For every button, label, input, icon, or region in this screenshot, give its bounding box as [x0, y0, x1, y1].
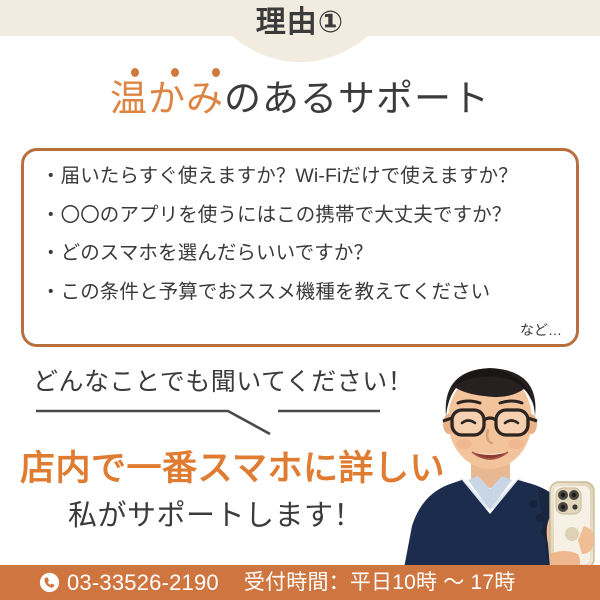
list-item: ・どのスマホを選んだらいいですか？: [41, 244, 576, 264]
bullet-marker: ・: [41, 242, 61, 264]
list-item-text: どのスマホを選んだらいいですか？: [61, 242, 373, 264]
list-item: ・この条件と予算でおススメ機種を教えてください: [41, 283, 576, 303]
question-box-footnote: など…: [520, 320, 562, 340]
main-heading-block: 温かみのあるサポート: [0, 66, 600, 120]
claim-subline: 私がサポートします！: [68, 492, 363, 534]
heading-highlight: 温かみ: [110, 78, 224, 119]
claim-headline: 店内で一番スマホに詳しい: [20, 440, 445, 491]
promo-poster: 理由① 温かみのあるサポート ・届いたらすぐ使えますか？Wi-Fiだけで使えます…: [0, 0, 600, 600]
phone-number: 03-33526-2190: [67, 572, 219, 594]
phone-icon: [39, 572, 60, 593]
tagline-text: どんなことでも聞いてください！: [33, 362, 413, 398]
bullet-marker: ・: [41, 281, 61, 303]
question-list: ・届いたらすぐ使えますか？Wi-Fiだけで使えますか？ ・〇〇のアプリを使うには…: [24, 151, 576, 302]
phone-block[interactable]: 03-33526-2190: [39, 572, 219, 594]
footer-contact-bar: 03-33526-2190 受付時間：平日10時 〜 17時: [0, 565, 600, 600]
heading-rest: のあるサポート: [224, 78, 490, 119]
list-item-text: 〇〇のアプリを使うにはこの携帯で大丈夫ですか？: [61, 204, 512, 226]
question-box: ・届いたらすぐ使えますか？Wi-Fiだけで使えますか？ ・〇〇のアプリを使うには…: [21, 148, 579, 347]
list-item: ・届いたらすぐ使えますか？Wi-Fiだけで使えますか？: [41, 167, 576, 187]
banner-title: 理由①: [0, 8, 600, 38]
speech-bubble-underline-icon: [30, 400, 390, 436]
business-hours: 受付時間：平日10時 〜 17時: [244, 572, 516, 593]
list-item-text: この条件と予算でおススメ機種を教えてください: [61, 281, 491, 303]
bullet-marker: ・: [41, 165, 61, 187]
emphasis-dot: [131, 68, 139, 77]
emphasis-dot: [171, 68, 179, 77]
list-item: ・〇〇のアプリを使うにはこの携帯で大丈夫ですか？: [41, 206, 576, 226]
emphasis-dot: [212, 68, 220, 77]
bullet-marker: ・: [41, 204, 61, 226]
list-item-text: 届いたらすぐ使えますか？Wi-Fiだけで使えますか？: [61, 165, 518, 187]
emphasis-dots: [0, 66, 600, 78]
main-heading: 温かみのあるサポート: [0, 79, 600, 120]
